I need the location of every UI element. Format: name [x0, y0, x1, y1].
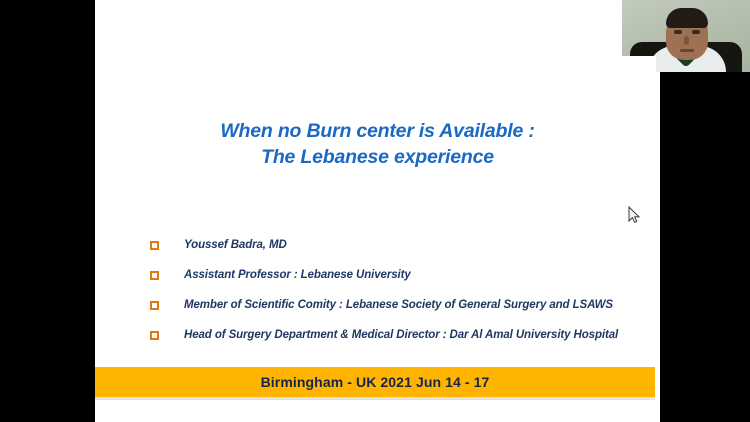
presentation-slide: When no Burn center is Available : The L…: [95, 0, 660, 422]
slide-title: When no Burn center is Available : The L…: [95, 118, 660, 170]
slide-footer-banner: Birmingham - UK 2021 Jun 14 - 17: [95, 367, 655, 397]
webcam-mouth-shape: [680, 49, 694, 52]
list-item-label: Assistant Professor : Lebanese Universit…: [184, 268, 660, 282]
webcam-eye-right: [692, 30, 700, 34]
list-item: Youssef Badra, MD: [150, 238, 660, 268]
square-bullet-icon: [150, 271, 159, 280]
square-bullet-icon: [150, 331, 159, 340]
webcam-hair-shape: [666, 8, 708, 28]
screen-share-viewport: When no Burn center is Available : The L…: [0, 0, 750, 422]
list-item-label: Member of Scientific Comity : Lebanese S…: [184, 298, 660, 312]
mouse-pointer-icon: [628, 206, 640, 224]
slide-footer-banner-label: Birmingham - UK 2021 Jun 14 - 17: [261, 374, 490, 390]
slide-bullet-list: Youssef Badra, MD Assistant Professor : …: [150, 238, 660, 358]
list-item-label: Youssef Badra, MD: [184, 238, 660, 252]
list-item-label: Head of Surgery Department & Medical Dir…: [184, 328, 660, 342]
webcam-edge-gap: [622, 56, 656, 72]
square-bullet-icon: [150, 241, 159, 250]
list-item: Assistant Professor : Lebanese Universit…: [150, 268, 660, 298]
list-item: Head of Surgery Department & Medical Dir…: [150, 328, 660, 358]
square-bullet-icon: [150, 301, 159, 310]
letterbox-left: [0, 0, 95, 422]
presenter-webcam-thumbnail[interactable]: [622, 0, 750, 72]
list-item: Member of Scientific Comity : Lebanese S…: [150, 298, 660, 328]
webcam-nose-shape: [684, 36, 689, 45]
slide-footer-divider: [95, 397, 655, 400]
webcam-eye-left: [674, 30, 682, 34]
